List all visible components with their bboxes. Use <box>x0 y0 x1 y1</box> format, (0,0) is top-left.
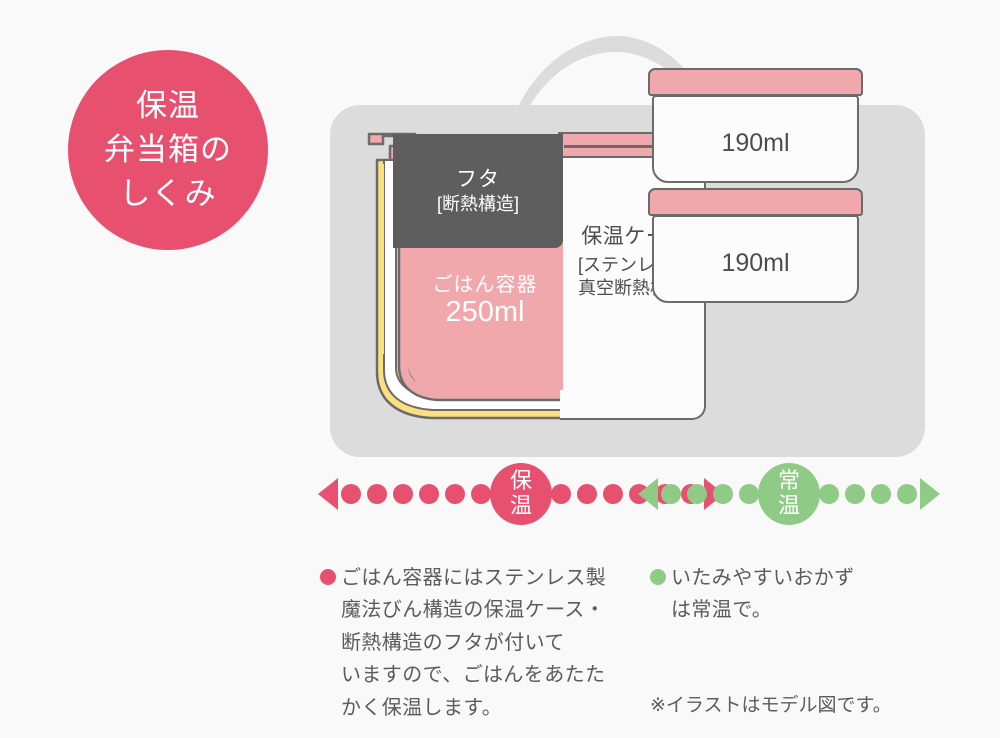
lid-block: フタ [断熱構造] <box>393 134 563 248</box>
rice-container-fill: ごはん容器 250ml <box>407 240 563 390</box>
band-dot <box>739 484 759 504</box>
band-dot <box>687 484 707 504</box>
room-badge: 常 温 <box>758 463 820 525</box>
side-container-volume: 190ml <box>721 249 789 278</box>
side-container-top: 190ml <box>648 68 863 184</box>
side-container-volume: 190ml <box>721 129 789 158</box>
warm-badge-line-1: 保 <box>510 469 532 494</box>
band-dot <box>819 484 839 504</box>
caption-room-line-2: は常温で。 <box>650 594 940 626</box>
caption-warm-line-3: 断熱構造のフタが付いて <box>320 627 640 659</box>
arrow-left-icon <box>318 478 338 510</box>
footnote: ※イラストはモデル図です。 <box>650 690 892 717</box>
side-container-body: 190ml <box>652 95 859 183</box>
lunchbox-illustration: ごはん容器 250ml フタ [断熱構造] 保温ケース [ステンレス製 真空断熱… <box>300 20 940 450</box>
bullet-icon <box>650 569 666 585</box>
lid-sublabel: [断熱構造] <box>437 193 519 216</box>
rice-container-volume: 250ml <box>407 296 563 329</box>
room-band: 常 温 <box>638 463 940 525</box>
band-dot <box>471 484 491 504</box>
arrow-left-icon <box>638 478 658 510</box>
caption-warm-line-4: いますので、ごはんをあたた <box>320 659 640 691</box>
band-dot <box>845 484 865 504</box>
warm-badge: 保 温 <box>490 463 552 525</box>
side-container-bottom: 190ml <box>648 188 863 304</box>
band-dot <box>445 484 465 504</box>
caption-room-line-1: いたみやすいおかず <box>671 567 855 589</box>
band-dot <box>871 484 891 504</box>
lid-label: フタ <box>456 166 500 193</box>
caption-room: いたみやすいおかず は常温で。 <box>650 562 940 627</box>
room-badge-line-1: 常 <box>778 469 800 494</box>
caption-warm-line-5: かく保温します。 <box>320 692 640 724</box>
title-line-1: 保温 <box>136 84 200 128</box>
warm-badge-line-2: 温 <box>510 494 532 519</box>
band-dot <box>393 484 413 504</box>
title-badge: 保温 弁当箱の しくみ <box>68 50 268 250</box>
band-dot <box>367 484 387 504</box>
side-container-body: 190ml <box>652 215 859 303</box>
infographic-root: 保温 弁当箱の しくみ <box>0 0 1000 738</box>
band-dot <box>603 484 623 504</box>
side-container-lid <box>648 68 863 96</box>
caption-warm-line-2: 魔法びん構造の保温ケース・ <box>320 594 640 626</box>
rice-assembly: ごはん容器 250ml フタ [断熱構造] 保温ケース [ステンレス製 真空断熱… <box>355 120 685 420</box>
title-line-2: 弁当箱の <box>104 128 232 172</box>
rice-container-label: ごはん容器 <box>407 268 563 297</box>
band-dot <box>551 484 571 504</box>
bullet-icon <box>320 569 336 585</box>
title-line-3: しくみ <box>119 172 216 216</box>
arrow-right-icon <box>920 478 940 510</box>
band-dot <box>577 484 597 504</box>
band-dot <box>897 484 917 504</box>
caption-warm: ごはん容器にはステンレス製 魔法びん構造の保温ケース・ 断熱構造のフタが付いて … <box>320 562 640 724</box>
band-dot <box>341 484 361 504</box>
band-dot <box>713 484 733 504</box>
caption-warm-line-1: ごはん容器にはステンレス製 <box>341 567 606 589</box>
band-dot <box>661 484 681 504</box>
side-container-lid <box>648 188 863 216</box>
band-dot <box>419 484 439 504</box>
room-badge-line-2: 温 <box>778 494 800 519</box>
